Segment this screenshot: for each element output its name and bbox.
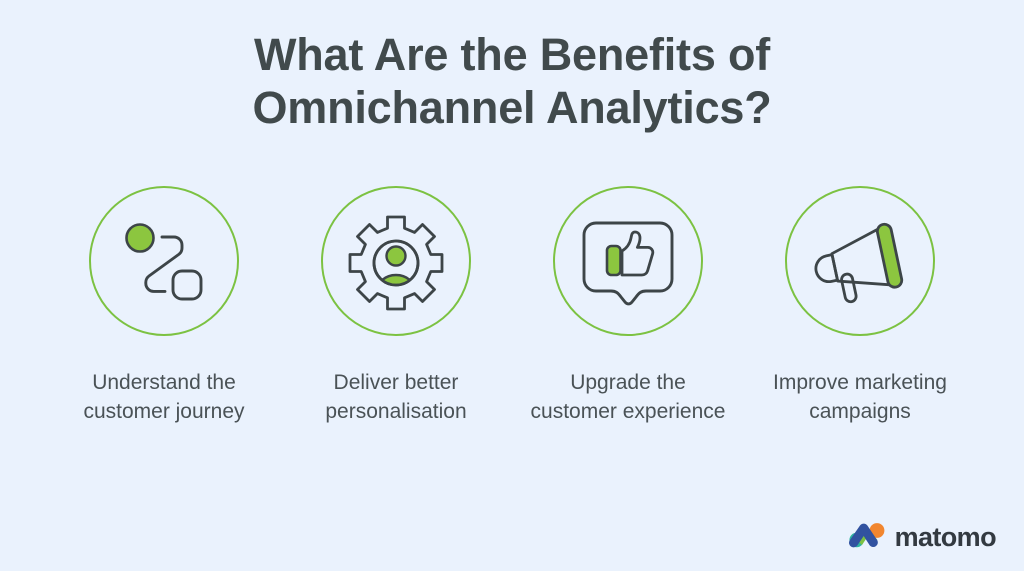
matomo-logo-mark-icon — [848, 522, 886, 553]
benefit-item-customer-experience: Upgrade the customer experience — [512, 186, 744, 426]
icon-circle-customer-experience — [553, 186, 703, 336]
customer-journey-path-icon — [116, 213, 212, 309]
matomo-logo-wordmark: matomo — [895, 524, 996, 551]
benefit-item-customer-journey: Understand the customer journey — [48, 186, 280, 426]
caption-line-2: customer experience — [531, 397, 726, 426]
icon-circle-marketing-campaigns — [785, 186, 935, 336]
benefit-item-personalisation: Deliver better personalisation — [280, 186, 512, 426]
infographic-slide: What Are the Benefits of Omnichannel Ana… — [0, 0, 1024, 571]
benefit-caption-customer-experience: Upgrade the customer experience — [531, 368, 726, 426]
icon-circle-customer-journey — [89, 186, 239, 336]
benefit-caption-personalisation: Deliver better personalisation — [325, 368, 466, 426]
benefit-caption-marketing-campaigns: Improve marketing campaigns — [773, 368, 947, 426]
caption-line-1: Deliver better — [325, 368, 466, 397]
page-title-line-2: Omnichannel Analytics? — [0, 81, 1024, 134]
caption-line-1: Understand the — [83, 368, 244, 397]
caption-line-2: customer journey — [83, 397, 244, 426]
caption-line-1: Upgrade the — [531, 368, 726, 397]
page-title: What Are the Benefits of Omnichannel Ana… — [0, 28, 1024, 134]
caption-line-2: personalisation — [325, 397, 466, 426]
matomo-logo: matomo — [848, 522, 996, 553]
icon-circle-personalisation — [321, 186, 471, 336]
gear-user-icon — [346, 211, 446, 311]
caption-line-1: Improve marketing — [773, 368, 947, 397]
thumbs-up-speech-bubble-icon — [582, 213, 674, 309]
megaphone-icon — [808, 213, 912, 309]
benefits-row: Understand the customer journey — [48, 186, 976, 426]
benefit-caption-customer-journey: Understand the customer journey — [83, 368, 244, 426]
benefit-item-marketing-campaigns: Improve marketing campaigns — [744, 186, 976, 426]
page-title-line-1: What Are the Benefits of — [0, 28, 1024, 81]
caption-line-2: campaigns — [773, 397, 947, 426]
